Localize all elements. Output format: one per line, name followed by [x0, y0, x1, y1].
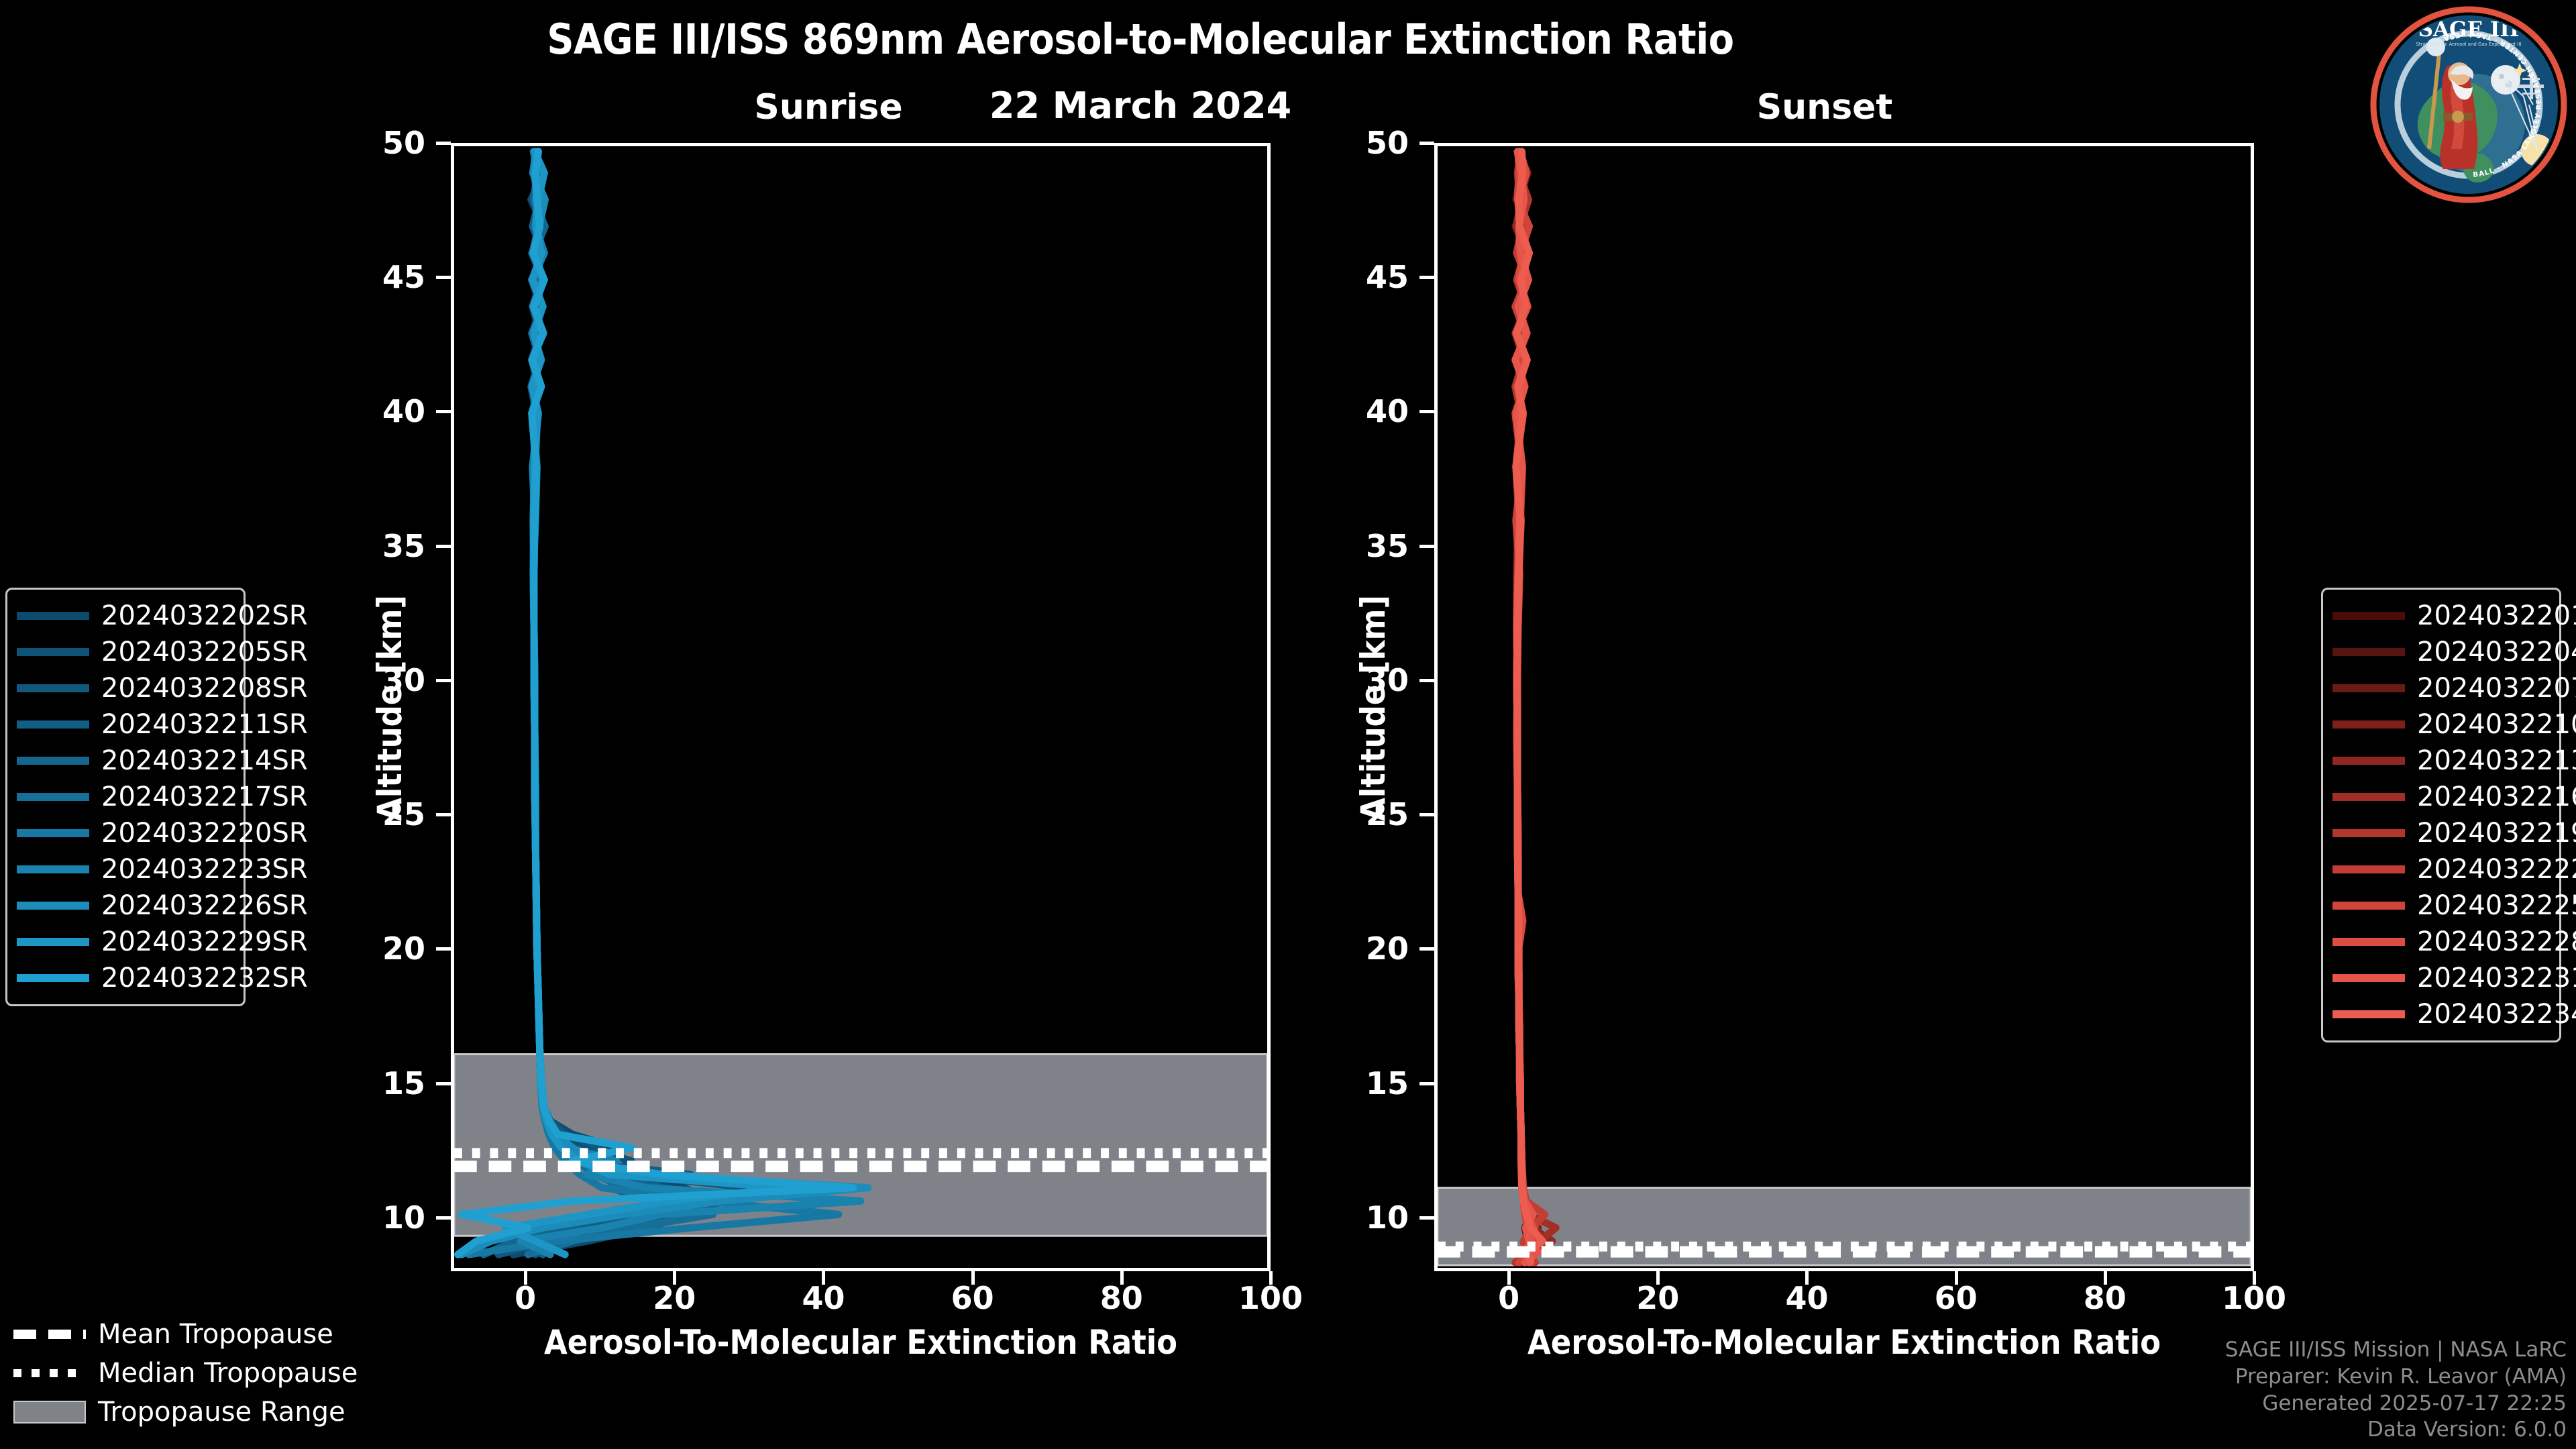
y-tick-mark: [1419, 1216, 1434, 1220]
legend-label: 2024032220SR: [101, 818, 308, 849]
legend-item-2024032231SS[interactable]: 2024032231SS: [2332, 960, 2550, 996]
legend-color-swatch: [17, 684, 89, 692]
legend-label: 2024032208SR: [101, 673, 308, 704]
legend-color-swatch: [17, 720, 89, 729]
legend-label: 2024032234SS: [2417, 999, 2576, 1030]
legend-item-2024032225SS[interactable]: 2024032225SS: [2332, 888, 2550, 924]
y-tick-mark: [436, 276, 451, 279]
x-tick-mark: [1955, 1271, 1958, 1285]
y-tick-label: 35: [382, 528, 425, 564]
credits-line-generated: Generated 2025-07-17 22:25: [2225, 1391, 2567, 1417]
legend-label: 2024032232SR: [101, 963, 308, 994]
x-tick-mark: [524, 1271, 527, 1285]
y-tick-label: 10: [1366, 1199, 1409, 1236]
x-tick-label: 80: [1100, 1280, 1143, 1316]
legend-item-2024032205SR[interactable]: 2024032205SR: [17, 634, 234, 670]
x-tick-mark: [673, 1271, 676, 1285]
legend-label: 2024032228SS: [2417, 926, 2576, 957]
x-tick-mark: [1269, 1271, 1273, 1285]
sunset-legend[interactable]: 2024032201SS2024032204SS2024032207SS2024…: [2321, 588, 2561, 1042]
legend-item-2024032229SR[interactable]: 2024032229SR: [17, 924, 234, 960]
legend-color-swatch: [2332, 793, 2405, 801]
x-tick-label: 0: [1498, 1280, 1519, 1316]
x-tick-label: 100: [1238, 1280, 1303, 1316]
legend-color-swatch: [17, 938, 89, 946]
legend-item-2024032207SS[interactable]: 2024032207SS: [2332, 670, 2550, 706]
y-tick-mark: [1419, 410, 1434, 413]
y-tick-label: 35: [1366, 528, 1409, 564]
legend-color-swatch: [17, 793, 89, 801]
legend-item-2024032208SR[interactable]: 2024032208SR: [17, 670, 234, 706]
x-tick-mark: [2104, 1271, 2107, 1285]
sunset-x-axis: Aerosol-To-Molecular Extinction Ratio: [1434, 0, 2254, 1449]
y-tick-mark: [1419, 142, 1434, 145]
legend-color-swatch: [17, 612, 89, 620]
x-tick-label: 20: [1636, 1280, 1679, 1316]
legend-label: 2024032216SS: [2417, 782, 2576, 812]
y-tick-label: 40: [382, 393, 425, 429]
legend-label-median-tropopause: Median Tropopause: [98, 1358, 358, 1389]
y-tick-label: 45: [1366, 259, 1409, 295]
sunset-x-axis-title: Aerosol-To-Molecular Extinction Ratio: [1434, 1323, 2254, 1362]
legend-item-2024032210SS[interactable]: 2024032210SS: [2332, 706, 2550, 743]
median-tropopause-dot-icon: [13, 1369, 86, 1377]
x-tick-mark: [971, 1271, 975, 1285]
legend-color-swatch: [2332, 1010, 2405, 1018]
legend-color-swatch: [2332, 648, 2405, 656]
legend-label: 2024032210SS: [2417, 709, 2576, 740]
y-tick-mark: [1419, 947, 1434, 951]
y-tick-mark: [436, 545, 451, 548]
legend-item-2024032228SS[interactable]: 2024032228SS: [2332, 924, 2550, 960]
legend-color-swatch: [2332, 757, 2405, 765]
y-tick-label: 15: [382, 1065, 425, 1102]
legend-item-2024032202SR[interactable]: 2024032202SR: [17, 598, 234, 634]
legend-item-2024032204SS[interactable]: 2024032204SS: [2332, 634, 2550, 670]
legend-color-swatch: [17, 648, 89, 656]
x-tick-mark: [2253, 1271, 2256, 1285]
legend-item-median-tropopause: Median Tropopause: [13, 1354, 329, 1393]
x-tick-label: 40: [1785, 1280, 1828, 1316]
y-tick-label: 20: [1366, 930, 1409, 967]
mean-tropopause-dash-icon: [13, 1330, 86, 1339]
legend-label: 2024032223SR: [101, 854, 308, 885]
legend-label: 2024032204SS: [2417, 637, 2576, 667]
y-tick-mark: [436, 947, 451, 951]
x-tick-label: 40: [802, 1280, 845, 1316]
y-tick-mark: [1419, 545, 1434, 548]
legend-label: 2024032213SS: [2417, 745, 2576, 776]
x-tick-label: 60: [1935, 1280, 1978, 1316]
y-tick-label: 45: [382, 259, 425, 295]
legend-item-tropopause-range: Tropopause Range: [13, 1393, 329, 1432]
y-tick-mark: [1419, 1082, 1434, 1085]
legend-item-2024032220SR[interactable]: 2024032220SR: [17, 815, 234, 851]
legend-label: 2024032219SS: [2417, 818, 2576, 849]
legend-item-mean-tropopause: Mean Tropopause: [13, 1315, 329, 1354]
legend-label: 2024032202SR: [101, 600, 308, 631]
legend-label-mean-tropopause: Mean Tropopause: [98, 1319, 333, 1350]
legend-color-swatch: [2332, 684, 2405, 692]
credits-line-mission: SAGE III/ISS Mission | NASA LaRC: [2225, 1337, 2567, 1364]
y-tick-mark: [436, 410, 451, 413]
legend-color-swatch: [2332, 720, 2405, 729]
y-tick-mark: [436, 679, 451, 682]
legend-label: 2024032217SR: [101, 782, 308, 812]
x-tick-mark: [822, 1271, 825, 1285]
legend-item-2024032222SS[interactable]: 2024032222SS: [2332, 851, 2550, 888]
legend-label: 2024032231SS: [2417, 963, 2576, 994]
y-tick-mark: [1419, 679, 1434, 682]
credits-line-version: Data Version: 6.0.0: [2225, 1417, 2567, 1444]
sunrise-legend[interactable]: 2024032202SR2024032205SR2024032208SR2024…: [5, 588, 246, 1006]
credits-block: SAGE III/ISS Mission | NASA LaRC Prepare…: [2225, 1337, 2567, 1444]
x-tick-label: 60: [951, 1280, 994, 1316]
legend-color-swatch: [2332, 865, 2405, 873]
legend-item-2024032234SS[interactable]: 2024032234SS: [2332, 996, 2550, 1032]
legend-item-2024032216SS[interactable]: 2024032216SS: [2332, 779, 2550, 815]
legend-label: 2024032226SR: [101, 890, 308, 921]
y-tick-mark: [436, 142, 451, 145]
legend-item-2024032223SR[interactable]: 2024032223SR: [17, 851, 234, 888]
legend-color-swatch: [17, 757, 89, 765]
legend-label: 2024032214SR: [101, 745, 308, 776]
x-tick-label: 0: [515, 1280, 536, 1316]
legend-label: 2024032222SS: [2417, 854, 2576, 885]
legend-item-2024032201SS[interactable]: 2024032201SS: [2332, 598, 2550, 634]
legend-label: 2024032211SR: [101, 709, 308, 740]
y-tick-label: 50: [382, 125, 425, 161]
x-tick-label: 80: [2084, 1280, 2127, 1316]
sage-iii-iss-logo: SAGE III Stratospheric Aerosol and Gas E…: [2368, 4, 2569, 205]
y-tick-label: 10: [382, 1199, 425, 1236]
tropopause-range-patch-icon: [13, 1401, 86, 1424]
y-axis-title: Altitude [km]: [1354, 595, 1393, 821]
y-tick-mark: [436, 1082, 451, 1085]
y-axis-title: Altitude [km]: [370, 595, 409, 821]
legend-label: 2024032205SR: [101, 637, 308, 667]
legend-color-swatch: [17, 902, 89, 910]
x-tick-label: 100: [2222, 1280, 2286, 1316]
y-tick-mark: [1419, 276, 1434, 279]
x-tick-mark: [1120, 1271, 1124, 1285]
y-tick-mark: [1419, 813, 1434, 816]
legend-color-swatch: [17, 865, 89, 873]
credits-line-preparer: Preparer: Kevin R. Leavor (AMA): [2225, 1364, 2567, 1391]
legend-color-swatch: [17, 974, 89, 982]
legend-item-2024032211SR[interactable]: 2024032211SR: [17, 706, 234, 743]
legend-label: 2024032229SR: [101, 926, 308, 957]
y-tick-label: 15: [1366, 1065, 1409, 1102]
legend-label: 2024032225SS: [2417, 890, 2576, 921]
legend-color-swatch: [2332, 612, 2405, 620]
legend-label: 2024032201SS: [2417, 600, 2576, 631]
legend-label-tropopause-range: Tropopause Range: [98, 1397, 345, 1428]
legend-label: 2024032207SS: [2417, 673, 2576, 704]
legend-color-swatch: [2332, 829, 2405, 837]
y-tick-label: 20: [382, 930, 425, 967]
y-tick-mark: [436, 813, 451, 816]
y-tick-mark: [436, 1216, 451, 1220]
x-tick-mark: [1805, 1271, 1809, 1285]
x-tick-mark: [1507, 1271, 1511, 1285]
legend-item-2024032214SR[interactable]: 2024032214SR: [17, 743, 234, 779]
tropopause-legend: Mean Tropopause Median Tropopause Tropop…: [13, 1315, 329, 1432]
legend-color-swatch: [2332, 938, 2405, 946]
legend-color-swatch: [2332, 974, 2405, 982]
y-tick-label: 50: [1366, 125, 1409, 161]
legend-item-2024032219SS[interactable]: 2024032219SS: [2332, 815, 2550, 851]
y-tick-label: 40: [1366, 393, 1409, 429]
legend-item-2024032226SR[interactable]: 2024032226SR: [17, 888, 234, 924]
legend-color-swatch: [17, 829, 89, 837]
x-tick-label: 20: [653, 1280, 696, 1316]
legend-item-2024032217SR[interactable]: 2024032217SR: [17, 779, 234, 815]
legend-item-2024032232SR[interactable]: 2024032232SR: [17, 960, 234, 996]
legend-item-2024032213SS[interactable]: 2024032213SS: [2332, 743, 2550, 779]
x-tick-mark: [1656, 1271, 1660, 1285]
legend-color-swatch: [2332, 902, 2405, 910]
